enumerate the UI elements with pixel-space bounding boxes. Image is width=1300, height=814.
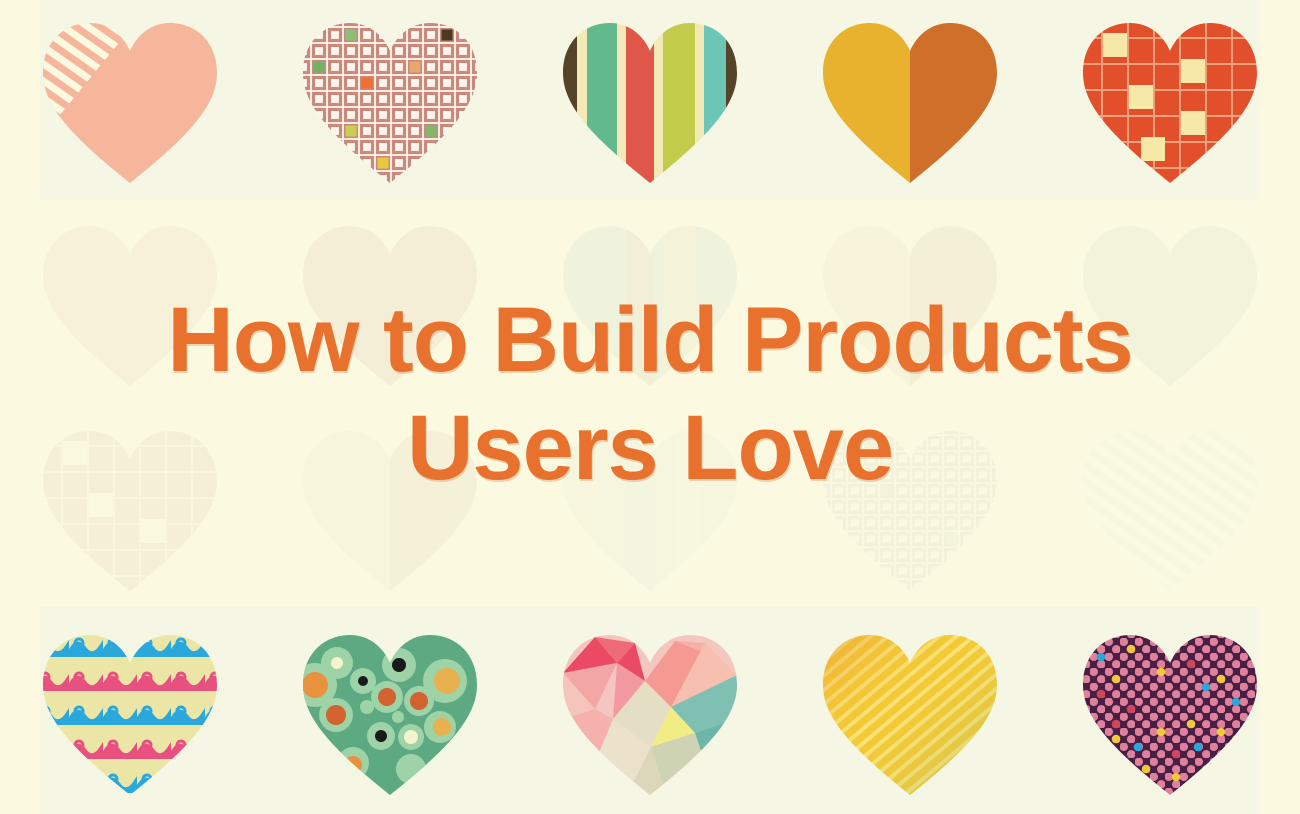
heart-row-third-faded — [0, 405, 1300, 610]
heart-cell — [260, 610, 520, 814]
heart-cell — [1040, 0, 1300, 200]
heart-red-checker — [1075, 11, 1265, 189]
heart-waves — [35, 623, 225, 801]
heart-cell — [780, 200, 1040, 405]
heart-square-grid — [815, 419, 1005, 597]
heart-cell — [0, 405, 260, 610]
heart-red-checker — [1075, 214, 1265, 392]
heart-square-grid — [295, 214, 485, 392]
heart-row-top — [0, 0, 1300, 200]
heart-cell — [1040, 200, 1300, 405]
heart-vertical-stripes — [555, 214, 745, 392]
heart-vertical-stripes — [555, 11, 745, 189]
heart-two-tone — [815, 11, 1005, 189]
heart-scribble-peach — [35, 11, 225, 189]
heart-cell — [260, 200, 520, 405]
heart-green-dots — [295, 623, 485, 801]
heart-cell — [260, 0, 520, 200]
heart-cell — [780, 610, 1040, 814]
heart-cell — [780, 405, 1040, 610]
heart-vertical-stripes — [555, 419, 745, 597]
heart-cell — [1040, 405, 1300, 610]
heart-cell — [520, 200, 780, 405]
heart-cell — [0, 200, 260, 405]
heart-cell — [0, 610, 260, 814]
heart-cell — [520, 0, 780, 200]
heart-cell — [260, 405, 520, 610]
heart-scribble-peach — [35, 214, 225, 392]
heart-low-poly — [555, 623, 745, 801]
heart-cell — [520, 405, 780, 610]
heart-cell — [0, 0, 260, 200]
heart-row-bottom — [0, 610, 1300, 814]
heart-scribble-peach — [1075, 419, 1265, 597]
heart-diagonal-hatch — [815, 623, 1005, 801]
heart-cell — [780, 0, 1040, 200]
heart-cell — [520, 610, 780, 814]
heart-red-checker — [35, 419, 225, 597]
heart-two-tone — [815, 214, 1005, 392]
title-card-canvas: How to Build Products Users Love — [0, 0, 1300, 814]
heart-purple-dots — [1075, 623, 1265, 801]
heart-row-second-faded — [0, 200, 1300, 405]
heart-cell — [1040, 610, 1300, 814]
heart-square-grid — [295, 11, 485, 189]
heart-two-tone — [295, 419, 485, 597]
